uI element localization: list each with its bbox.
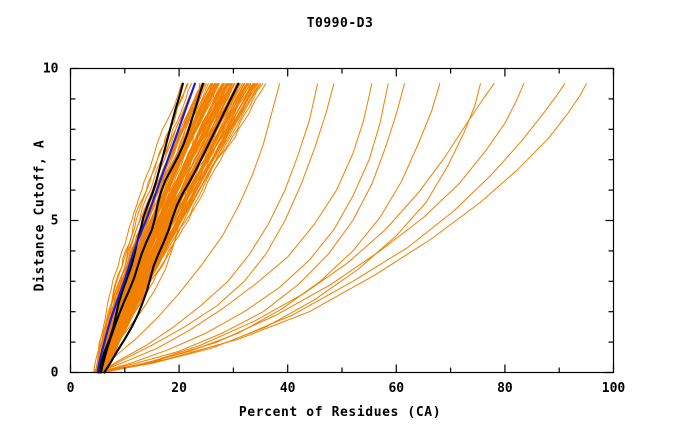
y-tick-label: 10 bbox=[43, 61, 59, 76]
chart-title: T0990-D3 bbox=[0, 16, 680, 31]
y-axis-label: Distance Cutoff, A bbox=[33, 96, 48, 336]
chart-figure: T0990-D3 Percent of Residues (CA) Distan… bbox=[0, 0, 680, 440]
x-tick-label: 40 bbox=[280, 381, 296, 396]
x-tick-label: 20 bbox=[171, 381, 187, 396]
prediction-curves-orange bbox=[94, 84, 587, 373]
x-tick-label: 0 bbox=[67, 381, 75, 396]
x-axis-label: Percent of Residues (CA) bbox=[0, 405, 680, 420]
y-tick-label: 0 bbox=[51, 365, 59, 380]
outlier-5 bbox=[98, 84, 372, 373]
x-tick-label: 60 bbox=[388, 381, 404, 396]
y-tick-label: 5 bbox=[51, 213, 59, 228]
x-tick-label: 100 bbox=[602, 381, 625, 396]
plot-area bbox=[0, 0, 680, 440]
outlier-7 bbox=[99, 84, 405, 373]
x-tick-label: 80 bbox=[497, 381, 513, 396]
